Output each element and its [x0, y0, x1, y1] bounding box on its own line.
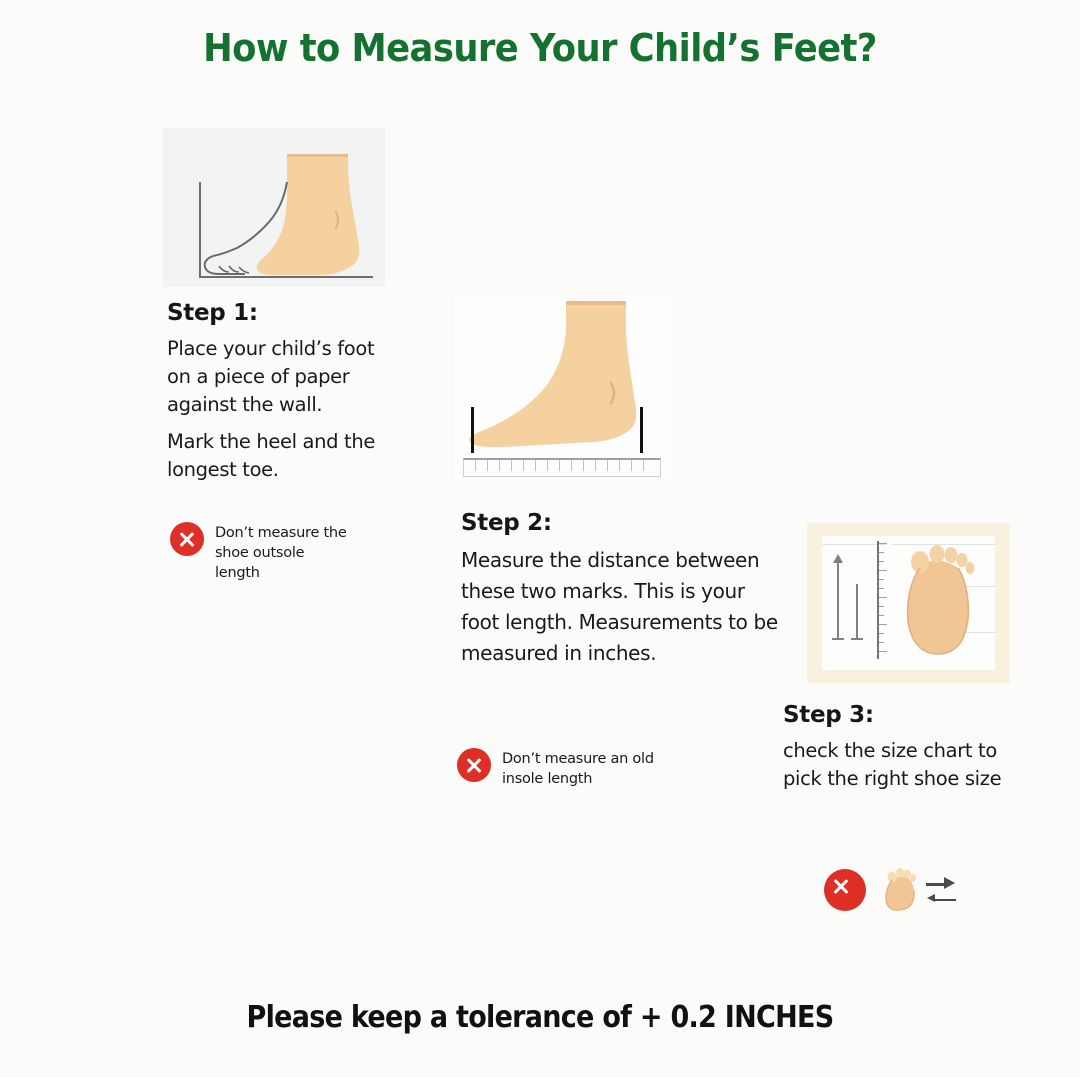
- measure-arrow-short: [856, 584, 858, 640]
- page-title: How to Measure Your Child’s Feet?: [38, 26, 1042, 70]
- arrow-base: [851, 638, 863, 640]
- step-1-title: Step 1:: [167, 300, 402, 326]
- toe-mark-line: [471, 407, 474, 453]
- measure-arrow-long: [837, 562, 839, 640]
- red-circle-x-icon: [457, 748, 491, 782]
- step-1-illustration: [163, 128, 385, 287]
- width-arrows-icon: [926, 870, 960, 910]
- step-2-title: Step 2:: [461, 510, 781, 536]
- step-1-text-line-1: Place your child’s foot on a piece of pa…: [167, 335, 402, 419]
- arrow-head-icon: [833, 554, 843, 563]
- vertical-ruler-icon: [877, 541, 879, 659]
- step-2-text-line-1: Measure the distance between these two m…: [461, 545, 781, 669]
- step-3-illustration: [807, 523, 1010, 683]
- step-1-warning: Don’t measure the shoe outsole length: [170, 522, 350, 583]
- tolerance-note: Please keep a tolerance of + 0.2 INCHES: [54, 1000, 1026, 1035]
- step-2-warning: Don’t measure an old insole length: [457, 748, 657, 789]
- step-3-text-line-1: check the size chart to pick the right s…: [783, 737, 1023, 793]
- step-2-illustration: [455, 295, 670, 483]
- step-3-warning: [824, 868, 960, 912]
- heel-mark-line: [640, 407, 643, 453]
- toe-outline-sketch-icon: [199, 180, 309, 280]
- arrow-base: [832, 638, 844, 640]
- step-1-text-line-2: Mark the heel and the longest toe.: [167, 428, 402, 484]
- footprint-sole-icon: [894, 542, 978, 660]
- footprint-width-icon: [882, 868, 918, 912]
- red-circle-x-icon: [170, 522, 204, 556]
- step-2-warning-text: Don’t measure an old insole length: [502, 748, 657, 789]
- step-3-title: Step 3:: [783, 702, 1023, 728]
- red-circle-x-icon: [824, 869, 866, 911]
- ruler-icon: [463, 458, 661, 477]
- step-1-warning-text: Don’t measure the shoe outsole length: [215, 522, 350, 583]
- foot-side-view-icon: [463, 301, 663, 453]
